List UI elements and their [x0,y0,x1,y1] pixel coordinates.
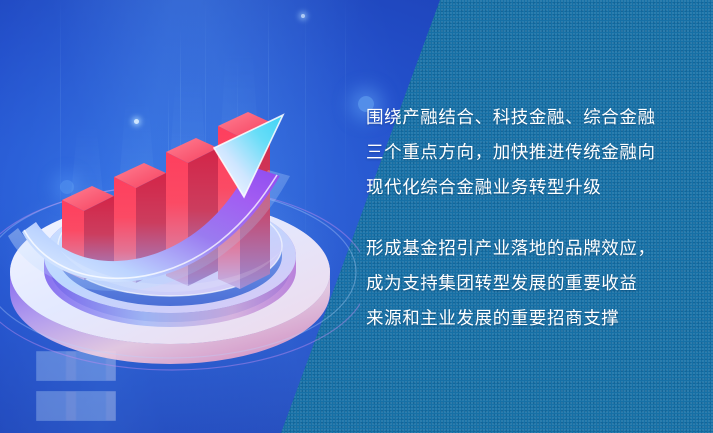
paragraph-1-line-3: 现代化综合金融业务转型升级 [366,170,696,205]
paragraph-1-line-2: 三个重点方向，加快推进传统金融向 [366,135,696,170]
growth-chart-illustration [0,0,360,433]
copy-block: 围绕产融结合、科技金融、综合金融 三个重点方向，加快推进传统金融向 现代化综合金… [366,100,696,336]
paragraph-2-line-2: 成为支持集团转型发展的重要收益 [366,266,696,301]
paragraph-2-line-1: 形成基金招引产业落地的品牌效应， [366,231,696,266]
paragraph-2: 形成基金招引产业落地的品牌效应， 成为支持集团转型发展的重要收益 来源和主业发展… [366,231,696,336]
paragraph-1-line-1: 围绕产融结合、科技金融、综合金融 [366,100,696,135]
paragraph-1: 围绕产融结合、科技金融、综合金融 三个重点方向，加快推进传统金融向 现代化综合金… [366,100,696,205]
slide-canvas: 围绕产融结合、科技金融、综合金融 三个重点方向，加快推进传统金融向 现代化综合金… [0,0,713,433]
paragraph-2-line-3: 来源和主业发展的重要招商支撑 [366,301,696,336]
